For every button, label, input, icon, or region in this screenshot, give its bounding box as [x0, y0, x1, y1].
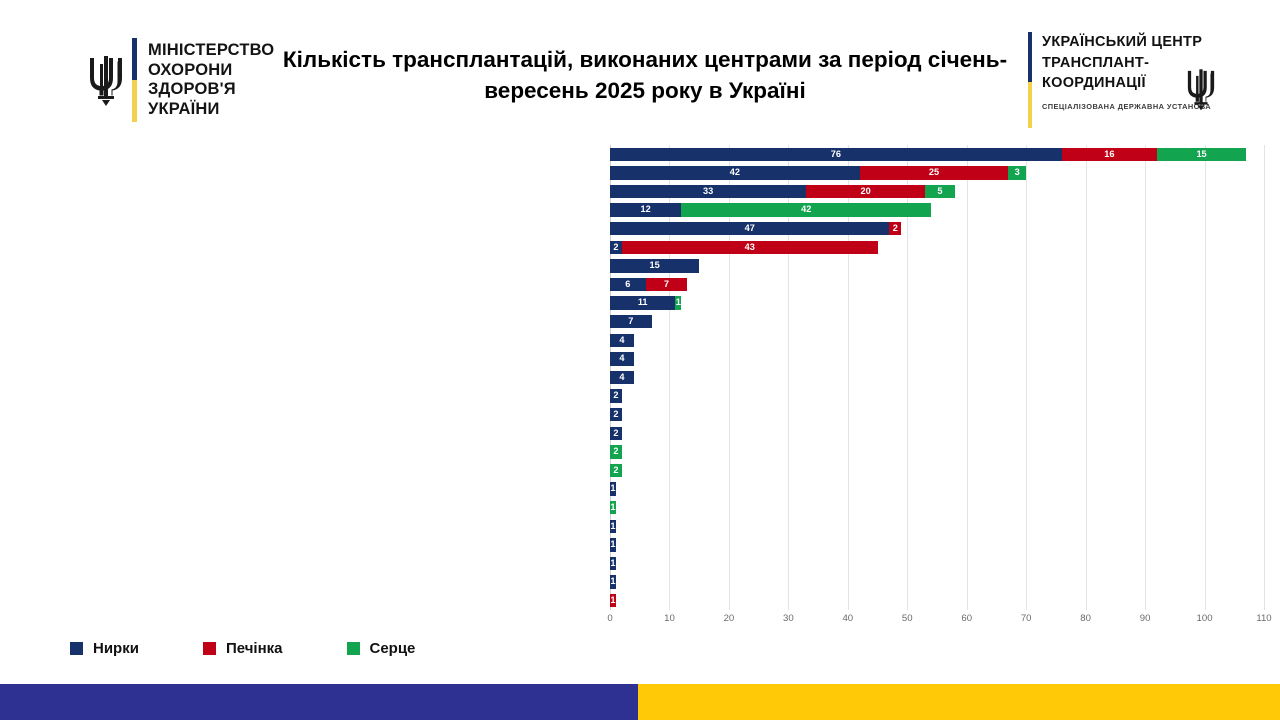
bar-segment-kid[interactable]: 7 — [610, 315, 652, 328]
trident-icon — [88, 52, 124, 108]
legend-label: Серце — [370, 640, 416, 657]
plot-area: Львівське ТМО Багатопрофільна клінічна л… — [610, 145, 1264, 610]
bar-segment-kid[interactable]: 42 — [610, 166, 860, 179]
trident-icon — [1185, 66, 1217, 112]
bar-value-label: 2 — [613, 466, 618, 475]
bar-segment-kid[interactable]: 2 — [610, 408, 622, 421]
bar-value-label: 42 — [730, 168, 740, 177]
chart-row[interactable]: Житомирська обласна клінічна лікарня іме… — [610, 387, 1264, 406]
bar-value-label: 16 — [1104, 150, 1114, 159]
chart-row[interactable]: Лікарня Святого Мартіна1 — [610, 480, 1264, 499]
bar-segment-hrt[interactable]: 42 — [681, 203, 931, 216]
bar-value-label: 4 — [619, 354, 624, 363]
bar-segment-liv[interactable]: 7 — [646, 278, 688, 291]
page-header: МІНІСТЕРСТВО ОХОРОНИ ЗДОРОВ'Я УКРАЇНИ Кі… — [0, 0, 1280, 145]
stacked-bar[interactable]: 2 — [610, 389, 622, 402]
x-tick-label: 40 — [842, 613, 853, 624]
chart-row[interactable]: Чернівецька обласна клінічна лікарня1 — [610, 536, 1264, 555]
bar-segment-kid[interactable]: 2 — [610, 427, 622, 440]
stacked-bar[interactable]: 1 — [610, 575, 616, 588]
uctk-logo-line-1: УКРАЇНСЬКИЙ ЦЕНТР — [1042, 32, 1211, 53]
bar-segment-kid[interactable]: 2 — [610, 241, 622, 254]
stacked-bar[interactable]: 472 — [610, 222, 901, 235]
bar-segment-kid[interactable]: 1 — [610, 557, 616, 570]
chart-row[interactable]: Національний науковий центр хірургії та … — [610, 164, 1264, 183]
bar-value-label: 1 — [676, 298, 681, 307]
bar-segment-hrt[interactable]: 1 — [610, 501, 616, 514]
bar-value-label: 12 — [641, 205, 651, 214]
chart-row[interactable]: Одеська обласна клінічна лікарня4 — [610, 331, 1264, 350]
bar-value-label: 1 — [610, 484, 615, 493]
bar-segment-kid[interactable]: 1 — [610, 482, 616, 495]
bar-segment-liv[interactable]: 2 — [889, 222, 901, 235]
bar-value-label: 2 — [613, 447, 618, 456]
bar-value-label: 15 — [1196, 150, 1206, 159]
bar-segment-kid[interactable]: 11 — [610, 296, 675, 309]
bar-segment-liv[interactable]: 16 — [1062, 148, 1157, 161]
bar-value-label: 33 — [703, 187, 713, 196]
bar-value-label: 2 — [613, 391, 618, 400]
stacked-bar[interactable]: 111 — [610, 296, 681, 309]
bar-value-label: 1 — [610, 503, 615, 512]
transplant-coordination-center-logo: УКРАЇНСЬКИЙ ЦЕНТР ТРАНСПЛАНТ- КООРДИНАЦІ… — [1028, 32, 1211, 128]
bar-value-label: 5 — [937, 187, 942, 196]
bar-segment-hrt[interactable]: 2 — [610, 464, 622, 477]
stacked-bar[interactable]: 2 — [610, 464, 622, 477]
legend-label: Нирки — [93, 640, 139, 657]
bar-value-label: 11 — [638, 298, 648, 307]
stacked-bar[interactable]: 4 — [610, 371, 634, 384]
stacked-bar[interactable]: 1 — [610, 557, 616, 570]
stacked-bar[interactable]: 2 — [610, 445, 622, 458]
chart-row[interactable]: Медичний центр міста Києва472 — [610, 219, 1264, 238]
bar-value-label: 3 — [1015, 168, 1020, 177]
bar-segment-hrt[interactable]: 15 — [1157, 148, 1246, 161]
stacked-bar[interactable]: 761615 — [610, 148, 1246, 161]
x-tick-label: 80 — [1080, 613, 1091, 624]
x-tick-label: 70 — [1021, 613, 1032, 624]
bar-segment-liv[interactable]: 20 — [806, 185, 925, 198]
chart-row[interactable]: Львівська обласна клінічна лікарня1 — [610, 573, 1264, 592]
chart-row[interactable]: Запорізька обласна клінічна лікарня15 — [610, 257, 1264, 276]
chart-row[interactable]: Черкаський обласний кардіологічний центр… — [610, 443, 1264, 462]
x-tick-label: 30 — [783, 613, 794, 624]
bar-segment-kid[interactable]: 15 — [610, 259, 699, 272]
bar-value-label: 2 — [613, 410, 618, 419]
stacked-bar[interactable]: 15 — [610, 259, 699, 272]
legend-swatch-icon — [203, 642, 216, 655]
bar-value-label: 7 — [664, 280, 669, 289]
bar-segment-liv[interactable]: 25 — [860, 166, 1009, 179]
chart-row[interactable]: Клінічна лікарня "Феофанія"1 — [610, 591, 1264, 610]
stacked-bar[interactable]: 33205 — [610, 185, 955, 198]
bar-value-label: 20 — [861, 187, 871, 196]
stacked-bar[interactable]: 4 — [610, 352, 634, 365]
x-tick-label: 10 — [664, 613, 675, 624]
bar-value-label: 43 — [745, 243, 755, 252]
bar-segment-kid[interactable]: 4 — [610, 371, 634, 384]
legend-item-kid[interactable]: Нирки — [70, 640, 139, 657]
bar-segment-liv[interactable]: 1 — [610, 594, 616, 607]
bar-value-label: 2 — [613, 429, 618, 438]
stacked-bar[interactable]: 1 — [610, 501, 616, 514]
bar-value-label: 1 — [610, 540, 615, 549]
x-tick-label: 50 — [902, 613, 913, 624]
logo-divider — [1028, 32, 1032, 128]
chart-row[interactable]: Волинська обласна клінічна лікарня7 — [610, 312, 1264, 331]
legend-item-hrt[interactable]: Серце — [347, 640, 416, 657]
ministry-of-health-logo: МІНІСТЕРСТВО ОХОРОНИ ЗДОРОВ'Я УКРАЇНИ — [88, 38, 274, 122]
bar-segment-kid[interactable]: 6 — [610, 278, 646, 291]
chart-row[interactable]: Львівське ТМО Багатопрофільна клінічна л… — [610, 145, 1264, 164]
stacked-bar[interactable]: 4 — [610, 334, 634, 347]
chart-row[interactable]: Національна дитяча спеціалізована лікарн… — [610, 275, 1264, 294]
x-axis: 0102030405060708090100110 — [610, 610, 1264, 632]
footer-yellow-band — [638, 684, 1280, 720]
bar-segment-kid[interactable]: 4 — [610, 352, 634, 365]
chart-row[interactable]: Харківський обласний клінічний центр уро… — [610, 424, 1264, 443]
stacked-bar[interactable]: 243 — [610, 241, 878, 254]
bar-value-label: 1 — [610, 522, 615, 531]
bar-value-label: 7 — [628, 317, 633, 326]
bar-value-label: 25 — [929, 168, 939, 177]
bar-segment-hrt[interactable]: 1 — [675, 296, 681, 309]
stacked-bar[interactable]: 1 — [610, 520, 616, 533]
bar-value-label: 1 — [610, 577, 615, 586]
bar-segment-hrt[interactable]: 2 — [610, 445, 622, 458]
footer-flag-bar — [0, 684, 1280, 720]
bar-segment-kid[interactable]: 4 — [610, 334, 634, 347]
bar-segment-kid[interactable]: 2 — [610, 389, 622, 402]
transplant-chart: Львівське ТМО Багатопрофільна клінічна л… — [0, 145, 1280, 645]
bar-value-label: 1 — [610, 559, 615, 568]
chart-row[interactable]: Сумська центральна міська клінічна лікар… — [610, 517, 1264, 536]
x-tick-label: 60 — [961, 613, 972, 624]
logo-divider — [132, 38, 137, 122]
bar-segment-kid[interactable]: 1 — [610, 520, 616, 533]
stacked-bar[interactable]: 7 — [610, 315, 652, 328]
stacked-bar[interactable]: 67 — [610, 278, 687, 291]
stacked-bar[interactable]: 1 — [610, 594, 616, 607]
chart-row[interactable]: Київська міська клінічна лікарня №133205 — [610, 182, 1264, 201]
bar-segment-kid[interactable]: 1 — [610, 575, 616, 588]
page-title: Кількість трансплантацій, виконаних цент… — [250, 44, 1040, 106]
chart-row[interactable]: Черкаський клінічний центр онкології, ге… — [610, 350, 1264, 369]
gridline — [1264, 145, 1265, 610]
bar-value-label: 76 — [831, 150, 841, 159]
bar-segment-kid[interactable]: 33 — [610, 185, 806, 198]
bar-segment-kid[interactable]: 76 — [610, 148, 1062, 161]
chart-legend: НиркиПечінкаСерце — [70, 640, 479, 657]
bar-value-label: 6 — [625, 280, 630, 289]
bar-value-label: 1 — [610, 596, 615, 605]
stacked-bar[interactable]: 2 — [610, 427, 622, 440]
bar-segment-kid[interactable]: 1 — [610, 538, 616, 551]
chart-row[interactable]: Львівський клінічний центр дитячої медиц… — [610, 368, 1264, 387]
bar-value-label: 4 — [619, 336, 624, 345]
x-tick-label: 110 — [1256, 613, 1271, 624]
x-tick-label: 20 — [724, 613, 735, 624]
chart-row[interactable]: ТОВ "Капитал" (Оберіг)243 — [610, 238, 1264, 257]
legend-swatch-icon — [70, 642, 83, 655]
chart-row[interactable]: Івано-Франківська центральна міська клін… — [610, 554, 1264, 573]
bar-value-label: 2 — [613, 243, 618, 252]
chart-row[interactable]: Івано-Франківська обласна клінічна лікар… — [610, 405, 1264, 424]
bar-segment-kid[interactable]: 47 — [610, 222, 889, 235]
stacked-bar[interactable]: 1 — [610, 538, 616, 551]
bar-value-label: 47 — [745, 224, 755, 233]
legend-label: Печінка — [226, 640, 283, 657]
chart-row[interactable]: Науково-практичний центр дитячої кардіол… — [610, 498, 1264, 517]
footer-blue-band — [0, 684, 638, 720]
stacked-bar[interactable]: 42253 — [610, 166, 1026, 179]
bar-value-label: 42 — [801, 205, 811, 214]
chart-row[interactable]: Вінницька обласна клінічна лікарня ім. М… — [610, 294, 1264, 313]
legend-item-liv[interactable]: Печінка — [203, 640, 283, 657]
x-tick-label: 100 — [1197, 613, 1213, 624]
bar-segment-liv[interactable]: 43 — [622, 241, 878, 254]
stacked-bar[interactable]: 1 — [610, 482, 616, 495]
bar-segment-kid[interactable]: 12 — [610, 203, 681, 216]
chart-row[interactable]: Інститут серця1242 — [610, 201, 1264, 220]
x-tick-label: 0 — [607, 613, 612, 624]
bar-segment-hrt[interactable]: 5 — [925, 185, 955, 198]
bar-value-label: 4 — [619, 373, 624, 382]
stacked-bar[interactable]: 2 — [610, 408, 622, 421]
bar-segment-hrt[interactable]: 3 — [1008, 166, 1026, 179]
chart-row[interactable]: Національний інститут серцево-судинної х… — [610, 461, 1264, 480]
legend-swatch-icon — [347, 642, 360, 655]
bar-value-label: 15 — [649, 261, 659, 270]
stacked-bar[interactable]: 1242 — [610, 203, 931, 216]
x-tick-label: 90 — [1140, 613, 1151, 624]
bar-value-label: 2 — [893, 224, 898, 233]
